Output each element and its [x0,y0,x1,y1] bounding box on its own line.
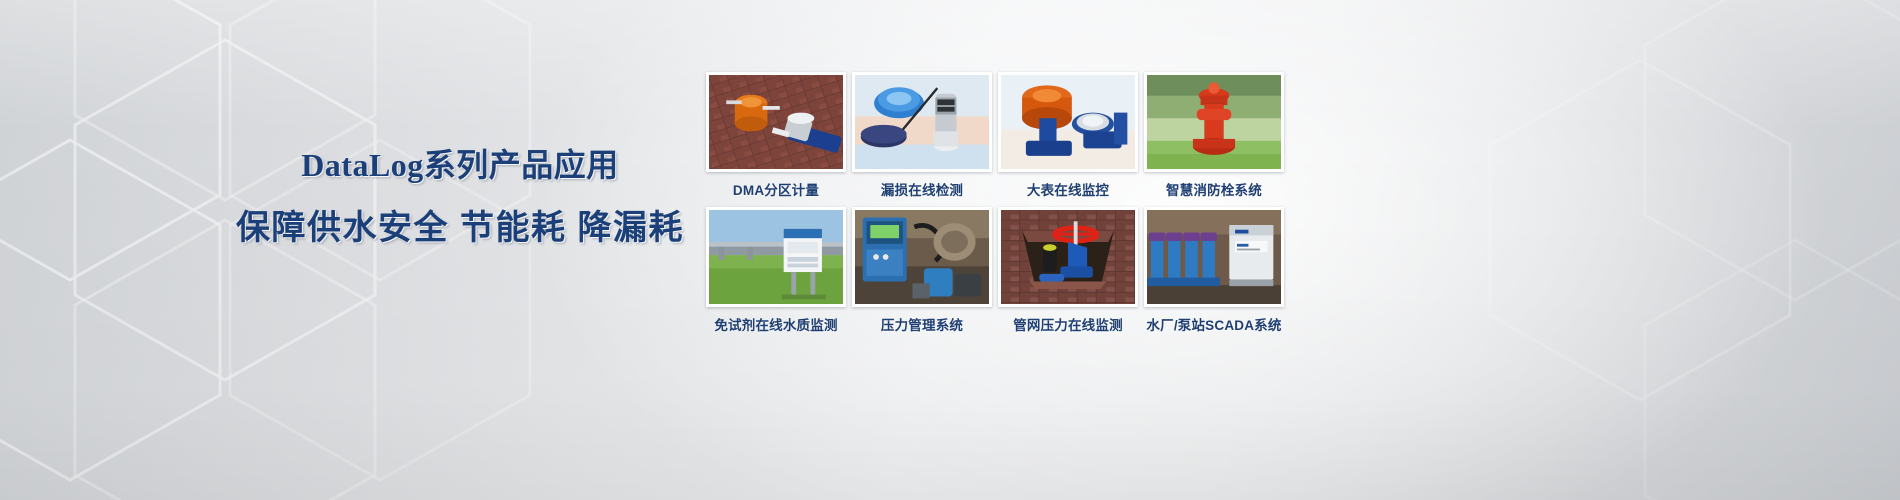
dma-flow-meter-chamber-photo[interactable] [706,72,846,172]
pipe-network-pressure-valve-photo[interactable] [998,207,1138,307]
product-caption: 管网压力在线监测 [1013,314,1123,334]
product-cell-smart-hydrant[interactable]: 智慧消防栓系统 [1144,72,1284,199]
product-cell-pipe-pressure[interactable]: 管网压力在线监测 [998,207,1138,334]
product-cell-dma-metering[interactable]: DMA分区计量 [706,72,846,199]
product-application-banner: DataLog系列产品应用 保障供水安全 节能耗 降漏耗 [0,0,1900,500]
thumbnail-row-1: DMA分区计量 [706,72,1290,199]
product-caption: 水厂/泵站SCADA系统 [1146,314,1281,334]
product-thumbnail-grid: DMA分区计量 [706,72,1290,342]
large-water-meter-photo[interactable] [998,72,1138,172]
leak-detection-logger-photo[interactable] [852,72,992,172]
product-cell-water-quality[interactable]: 免试剂在线水质监测 [706,207,846,334]
product-caption: DMA分区计量 [733,179,819,199]
product-cell-pressure-management[interactable]: 压力管理系统 [852,207,992,334]
product-caption: 压力管理系统 [881,314,963,334]
product-cell-large-meter[interactable]: 大表在线监控 [998,72,1138,199]
product-caption: 免试剂在线水质监测 [714,314,837,334]
product-caption: 大表在线监控 [1027,179,1109,199]
smart-fire-hydrant-photo[interactable] [1144,72,1284,172]
pump-station-scada-photo[interactable] [1144,207,1284,307]
product-caption: 漏损在线检测 [881,179,963,199]
product-caption: 智慧消防栓系统 [1166,179,1262,199]
headline-block: DataLog系列产品应用 保障供水安全 节能耗 降漏耗 [180,142,740,252]
thumbnail-row-2: 免试剂在线水质监测 [706,207,1290,334]
product-cell-leak-detection[interactable]: 漏损在线检测 [852,72,992,199]
product-cell-scada[interactable]: 水厂/泵站SCADA系统 [1144,207,1284,334]
water-quality-monitor-station-photo[interactable] [706,207,846,307]
pressure-management-cabinet-photo[interactable] [852,207,992,307]
headline-line-2: 保障供水安全 节能耗 降漏耗 [180,204,740,252]
headline-line-1: DataLog系列产品应用 [180,142,740,188]
